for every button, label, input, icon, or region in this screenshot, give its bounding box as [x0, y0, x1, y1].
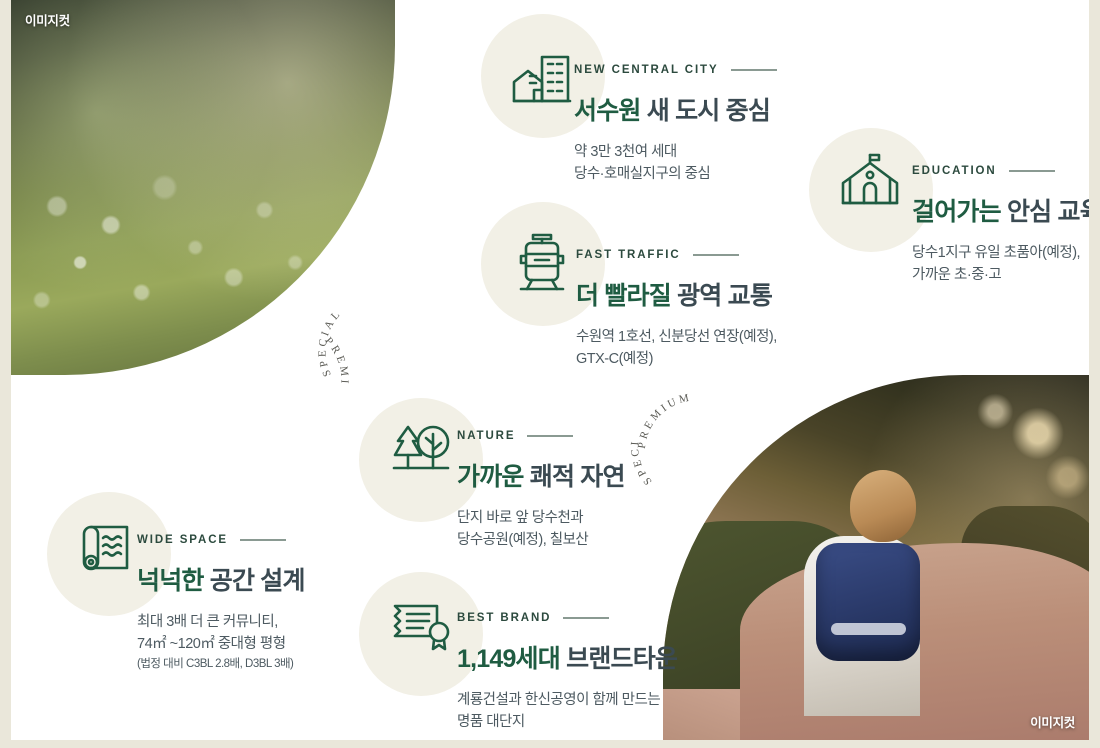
eyebrow-rule [731, 69, 777, 71]
feature-eyebrow: EDUCATION [912, 165, 997, 177]
infographic-page: 이미지컷 이미지컷 SPECIAL PREMIUM [11, 0, 1089, 740]
certificate-icon [391, 600, 453, 652]
feature-headline: 걸어가는 안심 교육 [912, 192, 1089, 228]
desc-line: 계룡건설과 한신공영이 함께 만드는 [457, 689, 677, 711]
school-icon [841, 152, 899, 208]
headline-highlight: 더 빨라질 [576, 282, 671, 310]
feature-description: 계룡건설과 한신공영이 함께 만드는 명품 대단지 [457, 689, 677, 734]
feature-eyebrow: NATURE [457, 430, 515, 442]
photo-backpack [816, 543, 920, 661]
headline-highlight: 1,149세대 [457, 645, 560, 673]
eyebrow-row: NATURE [457, 428, 625, 444]
feature-headline: 서수원 새 도시 중심 [574, 91, 777, 127]
feature-text-block: NATURE 가까운 쾌적 자연 단지 바로 앞 당수천과 당수공원(예정), … [457, 428, 625, 552]
eyebrow-rule [1009, 170, 1055, 172]
photo-child-head [850, 470, 916, 542]
feature-headline: 1,149세대 브랜드타운 [457, 639, 677, 675]
eyebrow-rule [563, 617, 609, 619]
feature-headline: 가까운 쾌적 자연 [457, 457, 625, 493]
headline-rest: 새 도시 중심 [641, 97, 770, 125]
desc-line: 수원역 1호선, 신분당선 연장(예정), [576, 326, 777, 348]
desc-line: 명품 대단지 [457, 711, 677, 733]
headline-highlight: 걸어가는 [912, 198, 1001, 226]
eyebrow-rule [693, 254, 739, 256]
feature-text-block: NEW CENTRAL CITY 서수원 새 도시 중심 약 3만 3천여 세대… [574, 62, 777, 186]
desc-line-note: (법정 대비 C3BL 2.8배, D3BL 3배) [137, 656, 305, 674]
image-cut-label-topleft: 이미지컷 [25, 10, 70, 29]
headline-highlight: 넉넉한 [137, 567, 204, 595]
feature-description: 약 3만 3천여 세대 당수·호매실지구의 중심 [574, 141, 777, 186]
eyebrow-row: BEST BRAND [457, 610, 677, 626]
eyebrow-row: WIDE SPACE [137, 532, 305, 548]
image-cut-label-bottomright: 이미지컷 [1030, 712, 1075, 731]
feature-text-block: WIDE SPACE 넉넉한 공간 설계 최대 3배 더 큰 커뮤니티, 74㎡… [137, 532, 305, 674]
desc-line: GTX-C(예정) [576, 348, 777, 370]
headline-rest: 광역 교통 [671, 282, 772, 310]
eyebrow-rule [527, 435, 573, 437]
desc-line: 가까운 초·중·고 [912, 264, 1089, 286]
feature-eyebrow: WIDE SPACE [137, 534, 228, 546]
feature-eyebrow: NEW CENTRAL CITY [574, 64, 719, 76]
feature-text-block: BEST BRAND 1,149세대 브랜드타운 계룡건설과 한신공영이 함께 … [457, 610, 677, 734]
headline-rest: 공간 설계 [204, 567, 305, 595]
feature-description: 단지 바로 앞 당수천과 당수공원(예정), 칠보산 [457, 507, 625, 552]
feature-eyebrow: BEST BRAND [457, 612, 551, 624]
trees-icon [391, 422, 451, 476]
feature-text-block: EDUCATION 걸어가는 안심 교육 당수1지구 유일 초품아(예정), 가… [912, 163, 1089, 287]
feature-description: 당수1지구 유일 초품아(예정), 가까운 초·중·고 [912, 242, 1089, 287]
eyebrow-row: FAST TRAFFIC [576, 247, 777, 263]
desc-line: 당수·호매실지구의 중심 [574, 163, 777, 185]
feature-text-block: FAST TRAFFIC 더 빨라질 광역 교통 수원역 1호선, 신분당선 연… [576, 247, 777, 371]
headline-rest: 쾌적 자연 [524, 463, 625, 491]
special-premium-badge-bottom: PREMIUM SPECIAL [633, 382, 749, 498]
feature-headline: 넉넉한 공간 설계 [137, 561, 305, 597]
feature-description: 최대 3배 더 큰 커뮤니티, 74㎡ ~120㎡ 중대형 평형 (법정 대비 … [137, 611, 305, 674]
desc-line: 74㎡ ~120㎡ 중대형 평형 [137, 633, 305, 655]
feature-description: 수원역 1호선, 신분당선 연장(예정), GTX-C(예정) [576, 326, 777, 371]
headline-rest: 브랜드타운 [560, 645, 677, 673]
headline-highlight: 서수원 [574, 97, 641, 125]
desc-line: 약 3만 3천여 세대 [574, 141, 777, 163]
eyebrow-rule [240, 539, 286, 541]
special-premium-badge-top: SPECIAL PREMIUM [317, 282, 433, 398]
headline-highlight: 가까운 [457, 463, 524, 491]
feature-headline: 더 빨라질 광역 교통 [576, 276, 777, 312]
badge-arc-premium-2: PREMIUM [636, 391, 693, 449]
apartment-building-icon [511, 52, 573, 104]
eyebrow-row: NEW CENTRAL CITY [574, 62, 777, 78]
feature-eyebrow: FAST TRAFFIC [576, 249, 681, 261]
desc-line: 단지 바로 앞 당수천과 [457, 507, 625, 529]
desc-line: 최대 3배 더 큰 커뮤니티, [137, 611, 305, 633]
desc-line: 당수1지구 유일 초품아(예정), [912, 242, 1089, 264]
blueprint-icon [75, 524, 137, 580]
train-icon [519, 232, 565, 292]
eyebrow-row: EDUCATION [912, 163, 1089, 179]
headline-rest: 안심 교육 [1001, 198, 1089, 226]
desc-line: 당수공원(예정), 칠보산 [457, 529, 625, 551]
